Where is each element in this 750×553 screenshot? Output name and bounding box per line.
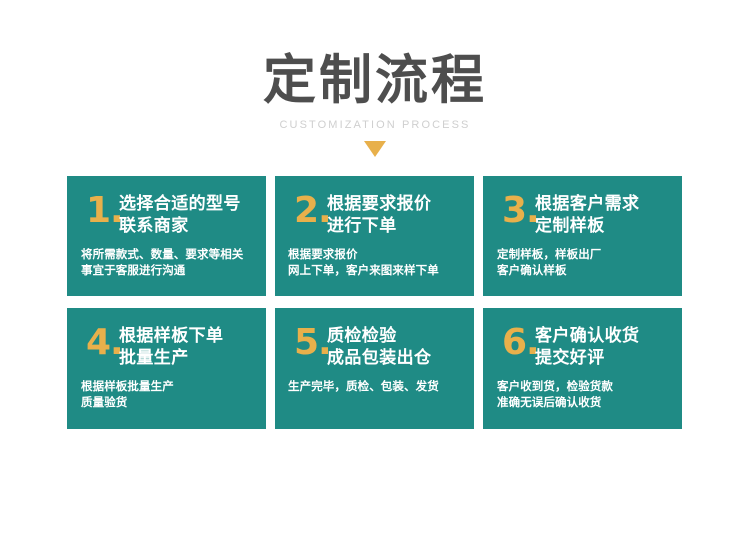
step-desc-line-1: 根据要求报价 <box>288 246 474 262</box>
step-desc-line-1: 客户收到货，检验货款 <box>497 378 682 394</box>
step-card-2-head: 2. 根据要求报价 进行下单 <box>275 194 474 237</box>
steps-row-2: 4. 根据样板下单 批量生产 根据样板批量生产 质量验货 5. 质检检验 成 <box>67 308 683 429</box>
step-title: 根据要求报价 进行下单 <box>327 194 431 237</box>
step-description: 客户收到货，检验货款 准确无误后确认收货 <box>483 369 682 410</box>
step-title-line-2: 批量生产 <box>119 348 223 370</box>
step-desc-line-2: 质量验货 <box>81 394 266 410</box>
page-title: 定制流程 <box>0 52 750 110</box>
step-title: 根据客户需求 定制样板 <box>535 194 639 237</box>
step-title-line-2: 成品包装出仓 <box>327 348 431 370</box>
steps-grid: 1. 选择合适的型号 联系商家 将所需款式、数量、要求等相关 事宜于客服进行沟通… <box>67 176 683 429</box>
step-card-6-head: 6. 客户确认收货 提交好评 <box>483 326 682 369</box>
step-description: 定制样板，样板出厂 客户确认样板 <box>483 237 682 278</box>
step-card-3-head: 3. 根据客户需求 定制样板 <box>483 194 682 237</box>
step-title: 客户确认收货 提交好评 <box>535 326 639 369</box>
step-card-3: 3. 根据客户需求 定制样板 定制样板，样板出厂 客户确认样板 <box>483 176 682 296</box>
step-title-line-2: 提交好评 <box>535 348 639 370</box>
step-description: 将所需款式、数量、要求等相关 事宜于客服进行沟通 <box>67 237 266 278</box>
page-subtitle: CUSTOMIZATION PROCESS <box>0 119 750 132</box>
step-desc-line-1: 将所需款式、数量、要求等相关 <box>81 246 266 262</box>
step-title-line-2: 进行下单 <box>327 216 431 238</box>
step-title-line-1: 根据样板下单 <box>119 326 223 348</box>
step-desc-line-2: 事宜于客服进行沟通 <box>81 262 266 278</box>
step-desc-line-2: 准确无误后确认收货 <box>497 394 682 410</box>
step-desc-line-1: 生产完毕，质检、包装、发货 <box>288 378 474 394</box>
step-title-line-2: 定制样板 <box>535 216 639 238</box>
step-title-line-1: 根据要求报价 <box>327 194 431 216</box>
step-card-6: 6. 客户确认收货 提交好评 客户收到货，检验货款 准确无误后确认收货 <box>483 308 682 429</box>
step-desc-line-2: 网上下单，客户来图来样下单 <box>288 262 474 278</box>
step-title: 根据样板下单 批量生产 <box>119 326 223 369</box>
step-card-1-head: 1. 选择合适的型号 联系商家 <box>67 194 266 237</box>
step-number: 2. <box>294 194 327 227</box>
step-description: 生产完毕，质检、包装、发货 <box>275 369 474 394</box>
customization-process-infographic: 定制流程 CUSTOMIZATION PROCESS 1. 选择合适的型号 联系… <box>0 0 750 553</box>
step-number: 1. <box>86 194 119 227</box>
step-card-5: 5. 质检检验 成品包装出仓 生产完毕，质检、包装、发货 <box>275 308 474 429</box>
step-desc-line-2: 客户确认样板 <box>497 262 682 278</box>
arrow-container <box>0 141 750 159</box>
step-title-line-2: 联系商家 <box>119 216 241 238</box>
step-title-line-1: 质检检验 <box>327 326 431 348</box>
step-title: 质检检验 成品包装出仓 <box>327 326 431 369</box>
step-description: 根据要求报价 网上下单，客户来图来样下单 <box>275 237 474 278</box>
step-title-line-1: 选择合适的型号 <box>119 194 241 216</box>
step-description: 根据样板批量生产 质量验货 <box>67 369 266 410</box>
step-title-line-1: 客户确认收货 <box>535 326 639 348</box>
step-card-4: 4. 根据样板下单 批量生产 根据样板批量生产 质量验货 <box>67 308 266 429</box>
steps-row-1: 1. 选择合适的型号 联系商家 将所需款式、数量、要求等相关 事宜于客服进行沟通… <box>67 176 683 296</box>
step-number: 3. <box>502 194 535 227</box>
step-title: 选择合适的型号 联系商家 <box>119 194 241 237</box>
step-card-1: 1. 选择合适的型号 联系商家 将所需款式、数量、要求等相关 事宜于客服进行沟通 <box>67 176 266 296</box>
step-title-line-1: 根据客户需求 <box>535 194 639 216</box>
header: 定制流程 CUSTOMIZATION PROCESS <box>0 0 750 159</box>
step-desc-line-1: 定制样板，样板出厂 <box>497 246 682 262</box>
step-desc-line-1: 根据样板批量生产 <box>81 378 266 394</box>
triangle-down-icon <box>364 141 386 157</box>
step-card-2: 2. 根据要求报价 进行下单 根据要求报价 网上下单，客户来图来样下单 <box>275 176 474 296</box>
step-number: 4. <box>86 326 119 359</box>
step-number: 5. <box>294 326 327 359</box>
step-card-5-head: 5. 质检检验 成品包装出仓 <box>275 326 474 369</box>
step-number: 6. <box>502 326 535 359</box>
step-card-4-head: 4. 根据样板下单 批量生产 <box>67 326 266 369</box>
